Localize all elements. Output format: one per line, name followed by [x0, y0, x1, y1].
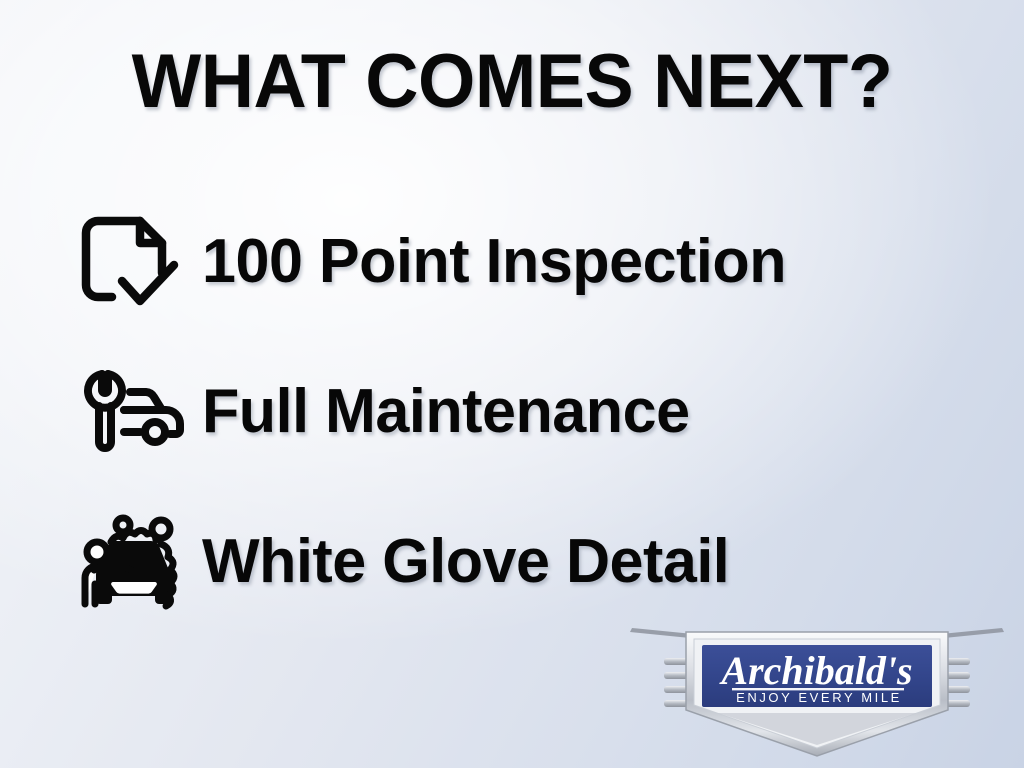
document-check-icon [72, 210, 188, 314]
feature-item: White Glove Detail [72, 506, 992, 618]
feature-list: 100 Point Inspection [72, 206, 992, 618]
slide-canvas: WHAT COMES NEXT? 100 Point Inspection [0, 0, 1024, 768]
logo-wordmark: Archibald's [718, 648, 912, 693]
feature-label: Full Maintenance [202, 381, 690, 443]
wrench-car-icon [72, 360, 188, 464]
feature-label: White Glove Detail [202, 531, 729, 593]
page-title: WHAT COMES NEXT? [15, 44, 1008, 120]
feature-item: Full Maintenance [72, 356, 992, 468]
logo-tagline: ENJOY EVERY MILE [736, 690, 902, 705]
feature-item: 100 Point Inspection [72, 206, 992, 318]
car-wash-icon [72, 510, 188, 614]
dealer-logo: Archibald's ENJOY EVERY MILE [622, 614, 1012, 764]
feature-label: 100 Point Inspection [202, 231, 786, 293]
